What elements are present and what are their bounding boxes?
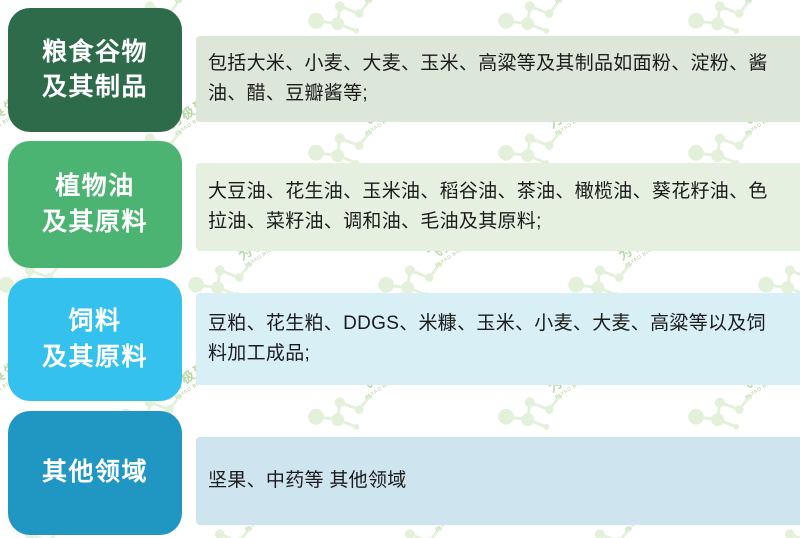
category-row-grain: 粮食谷物 及其制品 包括大米、小麦、大麦、玉米、高粱等及其制品如面粉、淀粉、酱油… [0,8,800,132]
category-label-box-other[interactable]: 其他领域 [8,411,182,535]
category-description-panel-grain: 包括大米、小麦、大麦、玉米、高粱等及其制品如面粉、淀粉、酱油、醋、豆瓣酱等; [196,36,800,122]
category-list: 粮食谷物 及其制品 包括大米、小麦、大麦、玉米、高粱等及其制品如面粉、淀粉、酱油… [0,0,800,538]
category-label-line: 其他领域 [42,455,148,491]
category-label-line: 植物油 [55,169,135,205]
category-label-line: 及其原料 [42,205,148,241]
category-description-text: 坚果、中药等 其他领域 [196,466,425,496]
category-label-box-feed[interactable]: 饲料 及其原料 [8,278,182,401]
category-row-feed: 饲料 及其原料 豆粕、花生粕、DDGS、米糠、玉米、小麦、大麦、高粱等以及饲料加… [0,278,800,401]
category-description-text: 包括大米、小麦、大麦、玉米、高粱等及其制品如面粉、淀粉、酱油、醋、豆瓣酱等; [196,49,800,110]
category-description-text: 豆粕、花生粕、DDGS、米糠、玉米、小麦、大麦、高粱等以及饲料加工成品; [196,309,800,370]
category-label-line: 及其原料 [42,340,148,376]
category-description-panel-feed: 豆粕、花生粕、DDGS、米糠、玉米、小麦、大麦、高粱等以及饲料加工成品; [196,293,800,385]
category-label-line: 及其制品 [42,70,148,106]
category-description-panel-other: 坚果、中药等 其他领域 [196,437,800,525]
category-row-other: 其他领域 坚果、中药等 其他领域 [0,411,800,538]
category-description-panel-vegetable-oil: 大豆油、花生油、玉米油、稻谷油、茶油、橄榄油、葵花籽油、色拉油、菜籽油、调和油、… [196,163,800,251]
category-row-vegetable-oil: 植物油 及其原料 大豆油、花生油、玉米油、稻谷油、茶油、橄榄油、葵花籽油、色拉油… [0,141,800,268]
category-label-box-grain[interactable]: 粮食谷物 及其制品 [8,8,182,132]
category-label-line: 粮食谷物 [42,35,148,71]
category-label-line: 饲料 [68,304,121,340]
category-label-box-vegetable-oil[interactable]: 植物油 及其原料 [8,141,182,268]
category-description-text: 大豆油、花生油、玉米油、稻谷油、茶油、橄榄油、葵花籽油、色拉油、菜籽油、调和油、… [196,177,800,238]
